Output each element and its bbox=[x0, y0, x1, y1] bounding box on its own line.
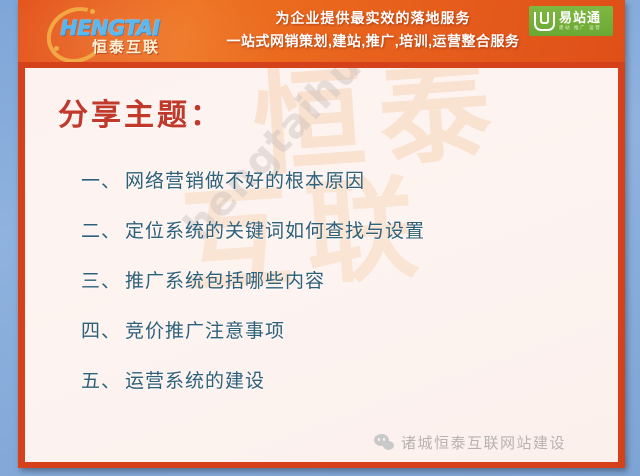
partner-badge-label: 易站通 bbox=[559, 11, 601, 24]
list-item-number: 一、 bbox=[81, 166, 125, 193]
list-item-label: 推广系统包括哪些内容 bbox=[125, 266, 581, 293]
list-item-number: 三、 bbox=[81, 266, 125, 293]
swoosh-dot-icon bbox=[54, 46, 59, 51]
list-item: 二、 定位系统的关键词如何查找与设置 bbox=[81, 216, 581, 243]
page-title: 分享主题： bbox=[58, 90, 223, 134]
list-item: 五、 运营系统的建设 bbox=[81, 366, 581, 393]
brand-logo-chinese: 恒泰互联 bbox=[92, 36, 160, 57]
header-slogan-line1: 为企业提供最实效的落地服务 bbox=[188, 7, 558, 29]
wechat-icon bbox=[374, 434, 394, 450]
slide-footer: 诸城恒泰互联网站建设 bbox=[25, 422, 618, 462]
list-item-number: 四、 bbox=[81, 316, 125, 343]
footer-label: 诸城恒泰互联网站建设 bbox=[401, 432, 566, 453]
list-item-number: 二、 bbox=[81, 216, 125, 243]
partner-badge-sublabel: 建站 推广 运营 bbox=[559, 26, 601, 31]
u-mark-icon bbox=[534, 12, 555, 31]
header-slogan-line2: 一站式网销策划,建站,推广,培训,运营整合服务 bbox=[188, 29, 558, 53]
header-slogan: 为企业提供最实效的落地服务 一站式网销策划,建站,推广,培训,运营整合服务 bbox=[188, 7, 558, 53]
brand-logo: HENGTAI 恒泰互联 bbox=[44, 6, 184, 56]
partner-badge: 易站通 建站 推广 运营 bbox=[529, 6, 613, 36]
list-item: 三、 推广系统包括哪些内容 bbox=[81, 266, 581, 293]
list-item-label: 定位系统的关键词如何查找与设置 bbox=[125, 216, 581, 243]
list-item-number: 五、 bbox=[81, 366, 125, 393]
slide-screenshot: HENGTAI 恒泰互联 为企业提供最实效的落地服务 一站式网销策划,建站,推广… bbox=[0, 0, 640, 476]
list-item: 四、 竞价推广注意事项 bbox=[81, 316, 581, 343]
list-item-label: 网络营销做不好的根本原因 bbox=[125, 166, 581, 193]
swoosh-dot-icon bbox=[90, 9, 95, 14]
list-item-label: 竞价推广注意事项 bbox=[125, 316, 581, 343]
topic-list: 一、 网络营销做不好的根本原因 二、 定位系统的关键词如何查找与设置 三、 推广… bbox=[81, 166, 581, 416]
slide-content: 恒泰 互联 hengtaihulian.com 分享主题： 一、 网络营销做不好… bbox=[25, 68, 618, 462]
list-item-label: 运营系统的建设 bbox=[125, 366, 581, 393]
header-banner: HENGTAI 恒泰互联 为企业提供最实效的落地服务 一站式网销策划,建站,推广… bbox=[18, 0, 625, 62]
list-item: 一、 网络营销做不好的根本原因 bbox=[81, 166, 581, 193]
